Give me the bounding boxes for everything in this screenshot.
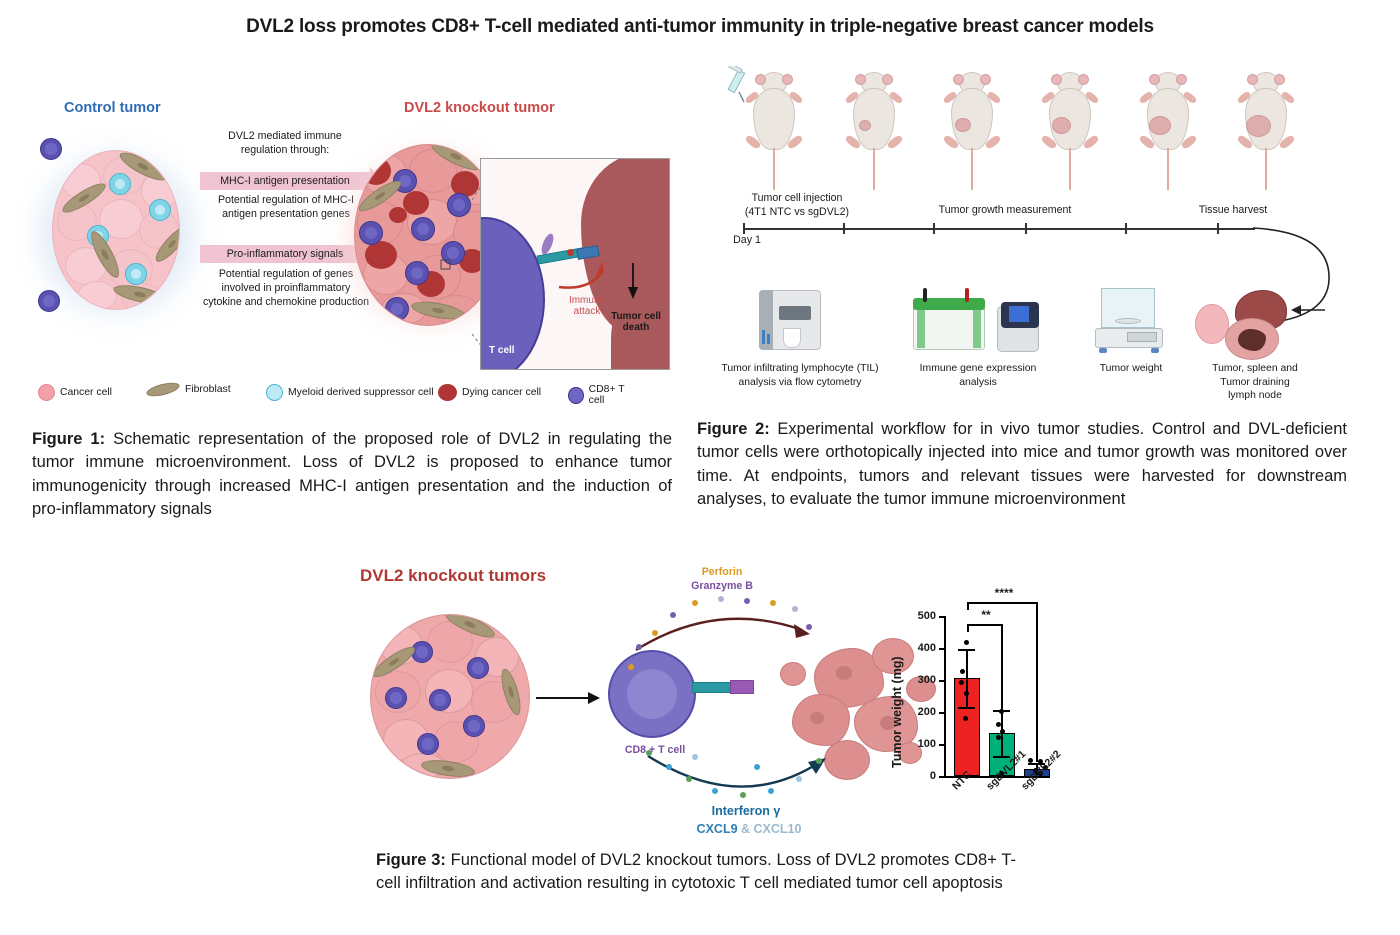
legend-label: Cancer cell xyxy=(60,387,112,398)
legend-label: Dying cancer cell xyxy=(462,387,541,398)
lymph-node-icon xyxy=(1195,304,1229,344)
perforin-label: Perforin xyxy=(672,566,772,578)
cxcl9-label: CXCL9 xyxy=(697,822,738,836)
cd8-tcell-icon xyxy=(463,715,485,737)
cd8-tcell-icon xyxy=(568,387,584,404)
chart-y-axis-label: Tumor weight (mg) xyxy=(890,656,904,768)
interferon-label: Interferon γ xyxy=(676,804,816,818)
chart-y-axis xyxy=(944,616,946,776)
figure1-legend: Cancer cell Fibroblast Myeloid derived s… xyxy=(38,384,638,408)
granzyme-particle xyxy=(792,606,798,612)
cd8-tcell-icon xyxy=(467,657,489,679)
chart-ytick-100: 100 xyxy=(904,738,936,750)
legend-item: Myeloid derived suppressor cell xyxy=(266,384,434,401)
data-point xyxy=(996,722,1001,727)
data-point xyxy=(959,680,964,685)
cancer-cell-icon xyxy=(38,384,55,401)
tumor-mass xyxy=(52,150,180,310)
assay-label-organs: Tumor, spleen and Tumor draining lymph n… xyxy=(1185,362,1325,403)
granzyme-particle xyxy=(806,624,812,630)
mouse-5 xyxy=(1137,72,1199,190)
gene-expression-icon xyxy=(913,288,1043,356)
flow-arrow xyxy=(536,688,606,708)
perforin-particle xyxy=(652,630,658,636)
chemokine-particle xyxy=(686,776,692,782)
organs-icon xyxy=(1195,288,1305,360)
mhc-arrow-label: MHC-I antigen presentation xyxy=(220,175,350,187)
harvest-label: Tissue harvest xyxy=(1173,204,1293,218)
mdsc-icon xyxy=(125,263,147,285)
mdsc-icon xyxy=(266,384,283,401)
mouse-1 xyxy=(743,72,805,190)
errorbar-cap-sg1-bottom xyxy=(993,756,1010,758)
cd8-tcell-icon xyxy=(447,193,471,217)
figure3-caption-text: Functional model of DVL2 knockout tumors… xyxy=(376,851,1016,892)
chemokine-particle xyxy=(754,764,760,770)
data-point xyxy=(996,735,1001,740)
assay-label-line2: Tumor draining xyxy=(1185,376,1325,390)
mouse-6 xyxy=(1235,72,1297,190)
perforin-particle xyxy=(770,600,776,606)
sigbracket-1 xyxy=(967,624,1002,626)
dying-cancer-cell-icon xyxy=(389,207,407,223)
injection-label-line2: (4T1 NTC vs sgDVL2) xyxy=(727,206,867,220)
errorbar-ntc xyxy=(966,649,968,708)
assay-label-line3: lymph node xyxy=(1185,389,1325,403)
chemokine-particle xyxy=(768,788,774,794)
cd8-tcell-icon xyxy=(38,290,60,312)
cd8-tcell-icon xyxy=(417,733,439,755)
figure1-caption-label: Figure 1: xyxy=(32,430,105,448)
figure1-knockout-heading: DVL2 knockout tumor xyxy=(404,100,555,116)
data-point xyxy=(963,716,968,721)
chart-ytick-400: 400 xyxy=(904,642,936,654)
mhc-complex xyxy=(730,680,754,694)
inset-tcell-label: T cell xyxy=(489,345,515,356)
data-point xyxy=(1000,729,1005,734)
legend-item: Cancer cell xyxy=(38,384,112,401)
chemokine-particle xyxy=(646,750,652,756)
tumor-death-label: Tumor cell death xyxy=(605,311,667,333)
cxcl10-label: CXCL10 xyxy=(754,822,802,836)
figure2-caption: Figure 2: Experimental workflow for in v… xyxy=(697,418,1347,512)
legend-item: Dying cancer cell xyxy=(438,384,541,401)
dying-cancer-cell-icon xyxy=(403,191,429,215)
chemokine-particle xyxy=(712,788,718,794)
legend-item: CD8+ T cell xyxy=(568,384,638,406)
sig-label-4stars: **** xyxy=(984,586,1024,600)
perforin-particle xyxy=(692,600,698,606)
granzyme-particle xyxy=(744,598,750,604)
figure3-caption-label: Figure 3: xyxy=(376,851,446,869)
assay-label-line2: analysis xyxy=(903,376,1053,390)
sig-label-2stars: ** xyxy=(968,608,1004,622)
cd8-tcell-icon xyxy=(441,241,465,265)
chemokine-particle xyxy=(816,758,822,764)
cd8-tcell-icon xyxy=(40,138,62,160)
chemokine-particle xyxy=(796,776,802,782)
granzyme-particle xyxy=(718,596,724,602)
data-point xyxy=(1028,758,1033,763)
figure3-caption: Figure 3: Functional model of DVL2 knock… xyxy=(376,849,1016,896)
assay-label-line1: Tumor infiltrating lymphocyte (TIL) xyxy=(705,362,895,376)
immune-synapse-inset: Immune attack Tumor cell death T cell xyxy=(480,158,670,370)
mdsc-icon xyxy=(149,199,171,221)
mouse-4 xyxy=(1039,72,1101,190)
tumor-nodule xyxy=(1149,116,1171,135)
data-point xyxy=(964,691,969,696)
figure3-tumor-mass xyxy=(370,614,530,779)
granzyme-label: Granzyme B xyxy=(662,580,782,592)
figure2-caption-label: Figure 2: xyxy=(697,420,770,438)
data-point xyxy=(964,640,969,645)
proinflammatory-arrow-label: Pro-inflammatory signals xyxy=(227,248,344,260)
dying-cancer-cell-icon xyxy=(365,241,397,269)
mouse-2 xyxy=(843,72,905,190)
cd8-tcell-icon xyxy=(411,217,435,241)
page-title: DVL2 loss promotes CD8+ T-cell mediated … xyxy=(0,16,1400,38)
assay-label-line1: Tumor, spleen and xyxy=(1185,362,1325,376)
chart-ytick-200: 200 xyxy=(904,706,936,718)
mdsc-icon xyxy=(109,173,131,195)
mouse-3 xyxy=(941,72,1003,190)
cxcl-amp: & xyxy=(738,822,754,836)
syringe-icon xyxy=(728,66,745,102)
chart-ytick-300: 300 xyxy=(904,674,936,686)
assay-label-gene: Immune gene expression analysis xyxy=(903,362,1053,389)
cd8-tcell-icon xyxy=(405,261,429,285)
control-tumor-illustration xyxy=(30,124,205,354)
tumor-weight-chart: Tumor weight (mg) 500 400 300 200 100 0 … xyxy=(888,588,1068,843)
legend-item: Fibroblast xyxy=(146,384,231,395)
granzyme-particle xyxy=(670,612,676,618)
sigbracket-2 xyxy=(967,602,1037,604)
legend-label: Fibroblast xyxy=(185,384,231,395)
cd8-tcell-icon xyxy=(429,689,451,711)
balance-scale-icon xyxy=(1093,288,1167,356)
injection-label: Tumor cell injection (4T1 NTC vs sgDVL2) xyxy=(727,192,867,220)
chemokine-particle xyxy=(740,792,746,798)
granzyme-particle xyxy=(636,644,642,650)
legend-label: CD8+ T cell xyxy=(589,384,638,406)
dying-cancer-cell-icon xyxy=(438,384,457,401)
chemokine-particle xyxy=(666,764,672,770)
assay-label-line2: analysis via flow cytometry xyxy=(705,376,895,390)
chart-ytick-0: 0 xyxy=(904,770,936,782)
fibroblast-icon xyxy=(145,380,181,399)
chart-ytick-500: 500 xyxy=(904,610,936,622)
chemokine-particle xyxy=(692,754,698,760)
errorbar-cap-ntc-top xyxy=(958,649,975,651)
growth-label: Tumor growth measurement xyxy=(905,204,1105,218)
flow-cytometer-icon xyxy=(753,288,829,356)
tumor-nodule xyxy=(1246,115,1271,137)
figure2-caption-text: Experimental workflow for in vivo tumor … xyxy=(697,420,1347,508)
figure1-caption: Figure 1: Schematic representation of th… xyxy=(32,428,672,522)
tumor-nodule xyxy=(1052,117,1071,134)
assay-label-line1: Immune gene expression xyxy=(903,362,1053,376)
tumor-icon xyxy=(1225,318,1279,360)
legend-label: Myeloid derived suppressor cell xyxy=(288,387,434,398)
figure1-caption-text: Schematic representation of the proposed… xyxy=(32,430,672,518)
figure1-control-heading: Control tumor xyxy=(64,100,161,116)
dying-cancer-cell-icon xyxy=(361,157,391,185)
cd8-tcell-icon xyxy=(359,221,383,245)
injection-label-line1: Tumor cell injection xyxy=(727,192,867,206)
assay-label-weight: Tumor weight xyxy=(1073,362,1189,376)
tumor-nodule xyxy=(955,118,971,132)
tumor-nodule xyxy=(859,120,871,131)
data-point xyxy=(960,669,965,674)
cd8-tcell-icon xyxy=(385,687,407,709)
perforin-particle xyxy=(628,664,634,670)
cd8-tcell-icon xyxy=(385,297,409,321)
assay-label-til: Tumor infiltrating lymphocyte (TIL) anal… xyxy=(705,362,895,389)
chemokine-label: CXCL9 & CXCL10 xyxy=(664,822,834,836)
figure3-heading: DVL2 knockout tumors xyxy=(360,566,546,586)
errorbar-cap-ntc-bottom xyxy=(958,707,975,709)
